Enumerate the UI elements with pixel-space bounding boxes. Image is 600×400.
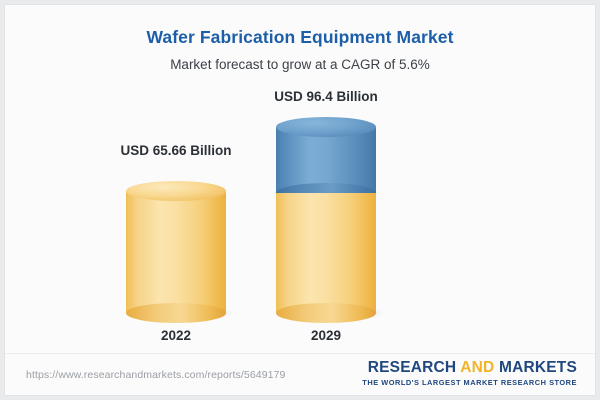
cylinder-segment-growth-2029 (276, 127, 376, 193)
data-label-2029: USD 96.4 Billion (251, 89, 401, 104)
chart-subtitle: Market forecast to grow at a CAGR of 5.6… (5, 48, 595, 72)
cylinder-bottom-cap (126, 303, 226, 323)
logo-wordmark: RESEARCH AND MARKETS (362, 360, 577, 376)
bar-group-2029: USD 96.4 Billion 2029 (251, 89, 401, 349)
cylinder-bottom-cap (276, 303, 376, 323)
logo-word-and: AND (456, 359, 499, 376)
axis-label-2022: 2022 (101, 328, 251, 343)
brand-logo[interactable]: RESEARCH AND MARKETS THE WORLD'S LARGEST… (362, 360, 577, 387)
cylinder-segment-base-2029 (276, 193, 376, 313)
page-title: Wafer Fabrication Equipment Market (5, 5, 595, 48)
chart-plot-area: USD 65.66 Billion 2022 USD 96.4 Billion (5, 89, 596, 349)
cylinder-top-cap (126, 181, 226, 201)
cylinder-2029[interactable] (276, 127, 376, 313)
logo-tagline: THE WORLD'S LARGEST MARKET RESEARCH STOR… (362, 378, 577, 387)
chart-card: Wafer Fabrication Equipment Market Marke… (4, 4, 596, 396)
logo-word-markets: MARKETS (499, 359, 577, 376)
chart-footer: https://www.researchandmarkets.com/repor… (5, 354, 595, 395)
cylinder-body (126, 191, 226, 313)
cylinder-top-cap (276, 117, 376, 137)
cylinder-body (276, 193, 376, 313)
axis-label-2029: 2029 (251, 328, 401, 343)
chart-header: Wafer Fabrication Equipment Market Marke… (5, 5, 595, 72)
bar-group-2022: USD 65.66 Billion 2022 (101, 89, 251, 349)
cylinder-2022[interactable] (126, 191, 226, 313)
cylinder-segment-base-2022 (126, 191, 226, 313)
logo-word-research: RESEARCH (368, 359, 457, 376)
data-label-2022: USD 65.66 Billion (101, 143, 251, 158)
source-url-link[interactable]: https://www.researchandmarkets.com/repor… (26, 369, 285, 381)
